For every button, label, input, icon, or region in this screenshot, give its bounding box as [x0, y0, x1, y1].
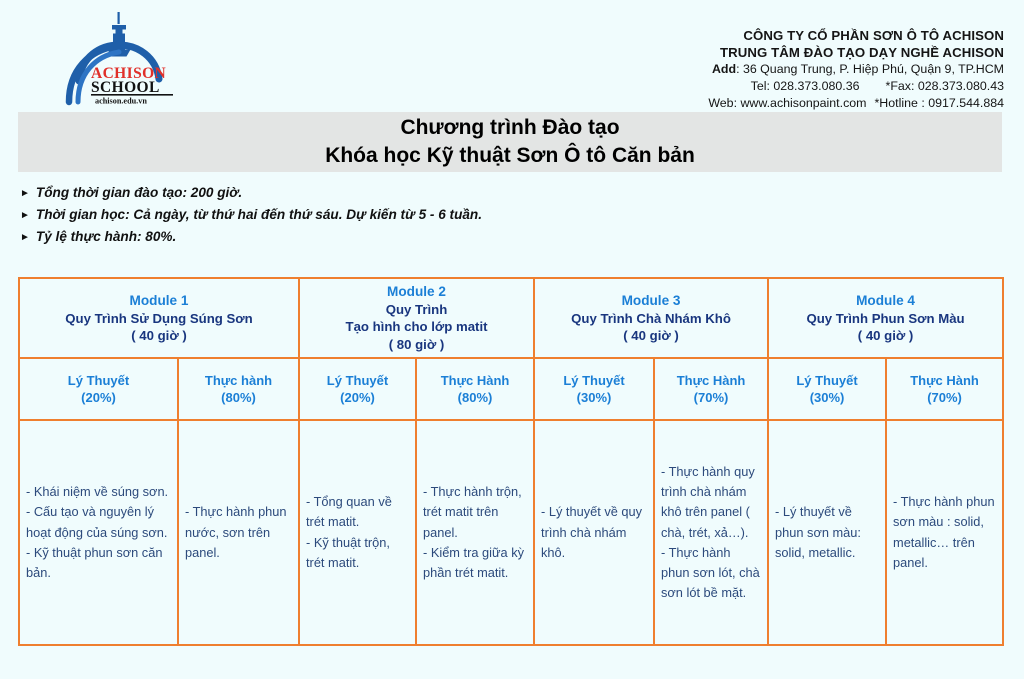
column-label: Thực Hành [661, 372, 761, 389]
content-text: - Thực hành quy trình chà nhám khô trên … [661, 462, 761, 604]
page-subtitle: Khóa học Kỹ thuật Sơn Ô tô Căn bản [325, 142, 695, 170]
content-cell-1: - Khái niệm về súng sơn. - Cấu tạo và ng… [19, 420, 178, 645]
address-value: : 36 Quang Trung, P. Hiệp Phú, Quận 9, T… [736, 62, 1004, 76]
list-item: ► Thời gian học: Cả ngày, từ thứ hai đến… [20, 204, 720, 226]
module-title: Module 2 [306, 283, 527, 301]
module-cell-2: Module 2 Quy Trình Tạo hình cho lớp mati… [299, 278, 534, 358]
logo-graphic: ACHISON SCHOOL achison.edu.vn [55, 8, 185, 106]
module-subtitle: Quy Trình Tạo hình cho lớp matit ( 80 gi… [306, 301, 527, 353]
company-info-block: CÔNG TY CỔ PHẦN SƠN Ô TÔ ACHISON TRUNG T… [708, 28, 1004, 111]
module-title: Module 3 [541, 292, 761, 310]
svg-text:SCHOOL: SCHOOL [91, 79, 160, 96]
column-header-3: Lý Thuyết (20%) [299, 358, 416, 420]
company-fax: *Fax: 028.373.080.43 [886, 79, 1005, 93]
column-label: Thực hành [185, 372, 292, 389]
note-text: Tổng thời gian đào tạo: 200 giờ. [36, 182, 242, 204]
training-program-table: Module 1 Quy Trình Sử Dụng Súng Sơn ( 40… [18, 277, 1004, 646]
svg-text:achison.edu.vn: achison.edu.vn [95, 97, 147, 106]
page-title: Chương trình Đào tạo [400, 114, 619, 142]
column-percent: (20%) [306, 389, 409, 406]
column-percent: (70%) [893, 389, 996, 406]
column-label: Lý Thuyết [306, 372, 409, 389]
company-website: Web: www.achisonpaint.com [708, 96, 866, 110]
content-row: - Khái niệm về súng sơn. - Cấu tạo và ng… [19, 420, 1003, 645]
column-header-6: Thực Hành (70%) [654, 358, 768, 420]
company-hotline: *Hotline : 0917.544.884 [874, 96, 1004, 110]
module-cell-4: Module 4 Quy Trình Phun Sơn Màu ( 40 giờ… [768, 278, 1003, 358]
company-tel: Tel: 028.373.080.36 [751, 79, 860, 93]
content-cell-3: - Tổng quan về trét matit. - Kỹ thuật tr… [299, 420, 416, 645]
column-header-1: Lý Thuyết (20%) [19, 358, 178, 420]
list-item: ► Tổng thời gian đào tạo: 200 giờ. [20, 182, 720, 204]
company-address: Add: 36 Quang Trung, P. Hiệp Phú, Quận 9… [708, 62, 1004, 78]
module-title: Module 4 [775, 292, 996, 310]
course-notes-list: ► Tổng thời gian đào tạo: 200 giờ. ► Thờ… [20, 182, 720, 248]
content-cell-4: - Thực hành trộn, trét matit trên panel.… [416, 420, 534, 645]
column-label: Thực Hành [893, 372, 996, 389]
module-cell-3: Module 3 Quy Trình Chà Nhám Khô ( 40 giờ… [534, 278, 768, 358]
address-label: Add [712, 62, 736, 76]
column-header-8: Thực Hành (70%) [886, 358, 1003, 420]
column-label: Lý Thuyết [541, 372, 647, 389]
achison-school-logo: ACHISON SCHOOL achison.edu.vn [55, 8, 185, 106]
content-text: - Khái niệm về súng sơn. - Cấu tạo và ng… [26, 482, 171, 583]
module-title: Module 1 [26, 292, 292, 310]
arrow-bullet-icon: ► [20, 230, 30, 246]
document-title-banner: Chương trình Đào tạo Khóa học Kỹ thuật S… [18, 112, 1002, 172]
content-cell-5: - Lý thuyết về quy trình chà nhám khô. [534, 420, 654, 645]
content-cell-8: - Thực hành phun sơn màu : solid, metall… [886, 420, 1003, 645]
column-header-7: Lý Thuyết (30%) [768, 358, 886, 420]
column-percent: (30%) [541, 389, 647, 406]
column-percent: (70%) [661, 389, 761, 406]
content-text: - Lý thuyết về quy trình chà nhám khô. [541, 502, 647, 563]
content-text: - Tổng quan về trét matit. - Kỹ thuật tr… [306, 492, 409, 573]
column-percent: (20%) [26, 389, 171, 406]
content-cell-2: - Thực hành phun nước, sơn trên panel. [178, 420, 299, 645]
training-center-name: TRUNG TÂM ĐÀO TẠO DẠY NGHỀ ACHISON [708, 45, 1004, 62]
column-label: Thực Hành [423, 372, 527, 389]
content-text: - Thực hành phun nước, sơn trên panel. [185, 502, 292, 563]
page-header: ACHISON SCHOOL achison.edu.vn CÔNG TY CỔ… [0, 0, 1024, 112]
content-cell-6: - Thực hành quy trình chà nhám khô trên … [654, 420, 768, 645]
module-subtitle: Quy Trình Phun Sơn Màu ( 40 giờ ) [775, 310, 996, 345]
company-name: CÔNG TY CỔ PHẦN SƠN Ô TÔ ACHISON [708, 28, 1004, 45]
arrow-bullet-icon: ► [20, 208, 30, 224]
column-percent: (80%) [185, 389, 292, 406]
content-text: - Thực hành phun sơn màu : solid, metall… [893, 492, 996, 573]
module-header-row: Module 1 Quy Trình Sử Dụng Súng Sơn ( 40… [19, 278, 1003, 358]
column-header-2: Thực hành (80%) [178, 358, 299, 420]
module-subtitle: Quy Trình Sử Dụng Súng Sơn ( 40 giờ ) [26, 310, 292, 345]
note-text: Thời gian học: Cả ngày, từ thứ hai đến t… [36, 204, 482, 226]
list-item: ► Tỷ lệ thực hành: 80%. [20, 226, 720, 248]
column-label: Lý Thuyết [26, 372, 171, 389]
content-text: - Thực hành trộn, trét matit trên panel.… [423, 482, 527, 583]
arrow-bullet-icon: ► [20, 186, 30, 202]
module-cell-1: Module 1 Quy Trình Sử Dụng Súng Sơn ( 40… [19, 278, 299, 358]
note-text: Tỷ lệ thực hành: 80%. [36, 226, 176, 248]
company-phone-line: Tel: 028.373.080.36*Fax: 028.373.080.43 [708, 79, 1004, 95]
column-header-5: Lý Thuyết (30%) [534, 358, 654, 420]
column-label: Lý Thuyết [775, 372, 879, 389]
theory-practice-header-row: Lý Thuyết (20%) Thực hành (80%) Lý Thuyế… [19, 358, 1003, 420]
column-percent: (80%) [423, 389, 527, 406]
column-percent: (30%) [775, 389, 879, 406]
content-text: - Lý thuyết về phun sơn màu: solid, meta… [775, 502, 879, 563]
company-web-line: Web: www.achisonpaint.com*Hotline : 0917… [708, 96, 1004, 112]
module-subtitle: Quy Trình Chà Nhám Khô ( 40 giờ ) [541, 310, 761, 345]
content-cell-7: - Lý thuyết về phun sơn màu: solid, meta… [768, 420, 886, 645]
column-header-4: Thực Hành (80%) [416, 358, 534, 420]
